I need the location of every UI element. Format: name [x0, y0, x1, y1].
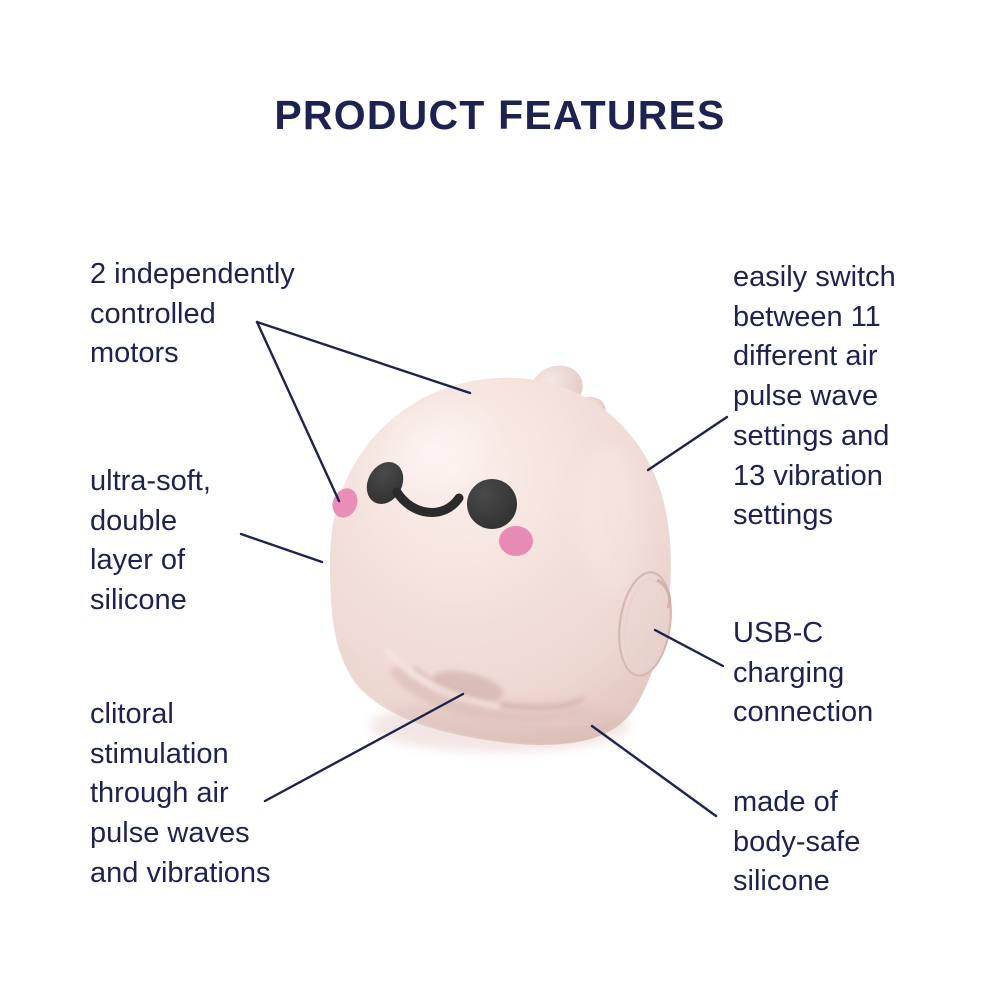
feature-label-body-safe: made of body-safe silicone — [733, 783, 983, 902]
feature-label-clitoral-stimulation: clitoral stimulation through air pulse w… — [90, 695, 370, 894]
feature-label-usb-c: USB-C charging connection — [733, 614, 983, 733]
feature-label-motors: 2 independently controlled motors — [90, 255, 380, 374]
feature-label-silicone-layer: ultra-soft, double layer of silicone — [90, 462, 340, 621]
product-features-diagram: PRODUCT FEATURES — [0, 0, 1000, 1000]
right-eye — [467, 479, 517, 529]
feature-label-settings: easily switch between 11 different air p… — [733, 258, 983, 536]
blush-right — [499, 526, 533, 556]
